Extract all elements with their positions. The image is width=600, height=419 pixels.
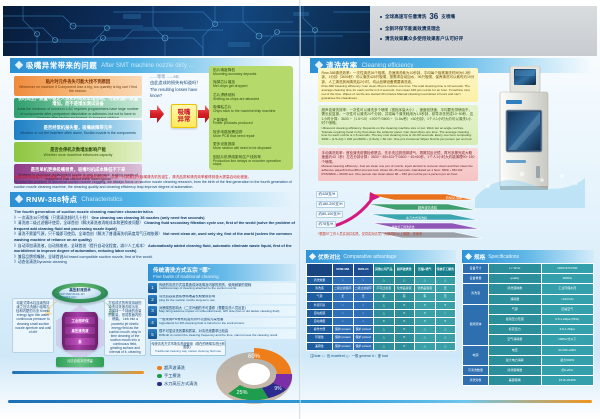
cylinder-band-1: 工业用环保 bbox=[65, 317, 95, 324]
specifications-table: 规格 Specifications 设备尺寸 L× W×H 1300×570×5… bbox=[462, 250, 594, 386]
cell: ○ bbox=[333, 317, 354, 325]
spec-value: 约1.2KG bbox=[541, 365, 594, 375]
col-other: 其他公司产品 bbox=[374, 264, 395, 277]
cell: ✕ bbox=[394, 342, 415, 350]
spec-row: 清洗液 清洗液种类 工业环保水剂 bbox=[463, 284, 594, 294]
spec-mid-cn: 清洗液种类 bbox=[507, 286, 522, 290]
cell: △ bbox=[374, 277, 395, 285]
cell: △ bbox=[415, 326, 436, 334]
characteristic-cn: 》清洗液二级过滤循环使用，全球首创（解决清洗液消耗成本和更换液问题） bbox=[14, 221, 143, 225]
problem-cn: 长时间生产质量不稳定人员和时间成本增加吗，可是机器人数量增加，而不是增加测试设备 bbox=[17, 98, 139, 107]
spec-row: 设备尺寸 L× W×H 1300×570×500 bbox=[463, 264, 594, 274]
row-label: 外观不损 bbox=[307, 301, 333, 309]
row-label: 环保性 bbox=[307, 334, 333, 342]
spec-mid-cn: 最大电力消耗 bbox=[506, 358, 524, 362]
legend-label: 水刀高压方式清洗 bbox=[164, 381, 198, 387]
section-title-characteristics: RNW-368特点 Characteristics bbox=[10, 192, 292, 207]
efficiency-box-manual: 手动清洗效率：首检清洗前需检修是否，先手洗过脱洗脚或气，再擦拭反光镜，再写多擦完… bbox=[318, 148, 478, 181]
consequence-item: 更多设备报废 More section will need to be disp… bbox=[213, 143, 289, 151]
spec-key-cn: 清洗液 bbox=[471, 291, 480, 295]
bullet-text-pre: 全新环保节能高效清洗理念 bbox=[385, 26, 440, 32]
bullet-dot-icon bbox=[380, 16, 382, 18]
comparative-grid: RNW-368 RW2-24 其他公司产品 超声波清洗 压缩+喷气 传统手工擦洗… bbox=[306, 263, 456, 351]
spec-value: 380KG bbox=[541, 274, 594, 284]
characteristic-row: 》兼容品牌喷嘴装，全球首创All brand compatible suctio… bbox=[14, 255, 296, 260]
five-faults-title-en: Five faults of traditional cleaning bbox=[153, 274, 296, 279]
spec-value: 1515~81965 bbox=[541, 376, 594, 386]
fault-row: 1 传统的清洗方式容易造成对吸嘴及内部的损伤，使用频繁的损耗 tradition… bbox=[148, 283, 296, 293]
legend-item: 水刀高压方式清洗 bbox=[157, 381, 198, 387]
cylinder-band-2: 高压清洗液 bbox=[65, 327, 95, 334]
efficiency-box-rnw368: Rnw-368清洗效率：一次性清洗36个吸嘴，总速清洗耗为10秒钟，平均每个吸嘴… bbox=[318, 68, 478, 102]
cell: △ bbox=[415, 277, 436, 285]
question-en: The resulting losses have know? bbox=[150, 87, 202, 100]
fault-number: 3 bbox=[148, 306, 157, 316]
problem-cn: 贴片时元件丢失可能大找不到原因 bbox=[46, 79, 110, 84]
cell: ○ bbox=[333, 277, 354, 285]
cell: ✕ bbox=[394, 317, 415, 325]
fault-en: May bring adverse impact on influential … bbox=[159, 310, 294, 313]
problem-en: Whether more downtime influences capacit… bbox=[44, 153, 113, 157]
col-aircompress: 压缩+喷气 bbox=[415, 264, 436, 277]
consequence-en: Fewer products produced bbox=[213, 122, 289, 126]
bullet-text-post: 支喷嘴 bbox=[441, 14, 455, 20]
spec-mid: 使用压力范围 bbox=[489, 314, 542, 324]
kinetic-right-en: Link into a powerful jet kinetic energy … bbox=[109, 317, 141, 354]
problem-box-1: 贴片时元件丢失可能大找不到原因 Whenever on machine if C… bbox=[14, 76, 142, 96]
spec-key: 设备尺寸 bbox=[463, 264, 489, 274]
cell: △ bbox=[374, 301, 395, 309]
cell: ✕ bbox=[394, 334, 415, 342]
bullet-text-pre: 全球高速写任意清洗 bbox=[385, 14, 426, 20]
spec-value: 最大600W bbox=[541, 355, 594, 365]
table-header-row: RNW-368 RW2-24 其他公司产品 超声波清洗 压缩+喷气 传统手工擦洗 bbox=[307, 264, 456, 277]
spec-key: 清洗液 bbox=[463, 284, 489, 304]
spec-key: 设备重量 bbox=[463, 274, 489, 284]
consequence-en: More section will need to be disposed bbox=[213, 147, 289, 151]
red-arrow-left-icon bbox=[150, 105, 164, 123]
spec-title-cn: 规格 bbox=[474, 253, 485, 261]
cell: △ bbox=[435, 277, 456, 285]
cell: 无 bbox=[353, 293, 374, 301]
characteristics-heading: The fourth generation of suction nozzle … bbox=[14, 209, 296, 214]
cell: ○ bbox=[353, 277, 374, 285]
spec-mid: 最大电力消耗 bbox=[489, 355, 542, 365]
spec-mid-cn: 清洗吸嘴数 bbox=[507, 368, 522, 372]
bullet-dot-icon bbox=[380, 28, 382, 30]
table-row: 清洗效果 ○ ○ △ △ △ △ bbox=[307, 277, 456, 285]
spec-mid-cn: 电压 bbox=[512, 348, 518, 352]
question-cn: 由此造成的损失有知道吗？ bbox=[150, 80, 202, 86]
cell: ○ bbox=[353, 309, 374, 317]
problem-cn: 是否经常机报失警，吸嘴故障带元件 bbox=[44, 125, 113, 130]
brochure-page: 全球高速写任意清洗 36 支喷嘴 全新环保节能高效清洗理念 清洗效果赢众多使用效… bbox=[0, 0, 600, 419]
cell: ○ bbox=[353, 301, 374, 309]
consequence-item: 产能降低 Fewer products produced bbox=[213, 119, 289, 127]
cell: △ bbox=[415, 334, 436, 342]
table-row: 气源 无 无 无 有 有 无 bbox=[307, 293, 456, 301]
middle-question-text: ......等等 ......etc 由此造成的损失有知道吗？ The resu… bbox=[150, 74, 202, 99]
badge-line-1: 吸嘴 bbox=[178, 109, 191, 116]
cell: 不可过滤液 bbox=[374, 285, 395, 293]
pump-cylinder-graphic: 工业用环保 高压清洗液 泵 bbox=[62, 312, 98, 350]
fault-number: 4 bbox=[148, 318, 157, 328]
fault-en: traditional way of cleaning attached to … bbox=[159, 287, 294, 290]
col-rnw368: RNW-368 bbox=[333, 264, 354, 277]
spec-mid-en: quality bbox=[510, 276, 519, 280]
abnormal-nozzle-badge: 吸嘴 异常 bbox=[171, 104, 197, 128]
cell: ✕ bbox=[374, 317, 395, 325]
spec-value: 工业环保水剂 bbox=[541, 284, 594, 294]
cell: ✕ bbox=[435, 317, 456, 325]
spec-title-en: Specifications bbox=[488, 254, 519, 260]
fault-text: 清洗后容易造成喷嘴堵塞长期使用影响 plug for the suction n… bbox=[157, 295, 296, 305]
table-row: 外观不损 ○ ○ △ ✕ ✕ ✕ bbox=[307, 301, 456, 309]
cell: 二级过滤循环 bbox=[333, 285, 354, 293]
five-faults-title-cn: 传统清洗方式五宗 “罪” bbox=[153, 266, 296, 274]
cell: 保护 protect bbox=[353, 326, 374, 334]
efficiency-en: Ultrasonic cleaning efficiency: Depends … bbox=[322, 127, 475, 142]
cell: △ bbox=[374, 326, 395, 334]
consequence-item: 贴片精度降低 Mounting accuracy deposits bbox=[213, 69, 289, 77]
spec-mid: quality bbox=[489, 274, 542, 284]
left-page-footer-rule bbox=[12, 371, 144, 374]
spec-mid-cn: 兼容吸嘴 bbox=[509, 378, 521, 382]
comparative-table-header: 优势对比 Comparative advantage bbox=[306, 250, 456, 263]
row-label: 操作方便 bbox=[307, 326, 333, 334]
cell: ✕ bbox=[394, 326, 415, 334]
characteristic-row: 》自动添加清洗液，自动排废液，全球首创（提升自动化程度，减少人工成本） Auto… bbox=[14, 244, 296, 254]
fault-en: plug for the suction nozzle long-term us… bbox=[159, 299, 294, 302]
cell: 保护 protect bbox=[333, 342, 354, 350]
consequence-en: Production line delays or mounter operat… bbox=[213, 160, 289, 167]
characteristic-cn: 》动态化清洗Dynamic cleaning bbox=[14, 260, 67, 264]
col-rw224: RW2-24 bbox=[353, 264, 374, 277]
problem-cn: 是否会停机次数增加影响产能 bbox=[50, 147, 106, 152]
cell: 二级过滤循环 bbox=[353, 285, 374, 293]
cell: ○ bbox=[353, 317, 374, 325]
circuit-banner-image bbox=[3, 6, 370, 56]
table-row: 操作方便 保护 protect 保护 protect △ ✕ △ △ bbox=[307, 326, 456, 334]
problem-en: Whenever on machine if Component lose a … bbox=[17, 85, 139, 93]
five-faults-header: 传统清洗方式五宗 “罪” Five faults of traditional … bbox=[148, 264, 296, 281]
table-row: 环保性 保护 protect 保护 protect △ ✕ △ △ bbox=[307, 334, 456, 342]
cell: 保护 protect bbox=[333, 334, 354, 342]
section-title-en: After SMT machine nozzle dirty ... bbox=[101, 62, 194, 69]
spec-mid: 兼容吸嘴 bbox=[489, 376, 542, 386]
slice-label-green: 25% bbox=[236, 390, 247, 396]
efficiency-en: Manual cleaning efficiency: Just we clea… bbox=[322, 165, 475, 177]
kinetic-left-en: Kinetic energy type thin water continuou… bbox=[15, 309, 51, 334]
spec-key: 使用流体 bbox=[463, 304, 489, 345]
characteristic-row: 》清洗不需要气源，只干燥即可使用，全球首创（解决了普通清洗机高度用气压缩依赖） … bbox=[14, 232, 296, 242]
problem-box-3: 是否经常机报失警，吸嘴故障带元件 Whether or not the mach… bbox=[14, 120, 142, 140]
banner-bullet-item: 全新环保节能高效清洗理念 bbox=[380, 26, 591, 32]
specifications-table-header: 规格 Specifications bbox=[462, 250, 594, 263]
slice-label-purple: 9% bbox=[274, 386, 282, 392]
cell: ✕ bbox=[415, 301, 436, 309]
cell: 有 bbox=[394, 293, 415, 301]
cell: ○ bbox=[333, 301, 354, 309]
page-footer-rule bbox=[8, 400, 592, 403]
spec-mid: L× W×H bbox=[489, 264, 542, 274]
legend-swatch-icon bbox=[157, 382, 162, 387]
slab-label-1: 约428支/H bbox=[316, 191, 338, 198]
spec-row: 设备重量 quality 380KG bbox=[463, 274, 594, 284]
consequences-list: 贴片精度降低 Mounting accuracy deposits 抛掉芯片增加… bbox=[209, 66, 293, 170]
fault-row: 4 一般采用IPA等有机溶剂对环境造成污染危害 Ingredients for … bbox=[148, 318, 296, 328]
spec-mid: 空气消耗量 bbox=[489, 335, 542, 345]
characteristic-cn: 》清洗不需要气源，只干燥即可使用，全球首创（解决了普通清洗机高度用气压缩依赖） bbox=[14, 232, 162, 236]
red-summary-note: 为解决吸嘴堵塞清洗的难题，我们一直专注吸嘴清洗的研究，从第一代到第四代吸嘴清洗机… bbox=[14, 175, 292, 190]
cell: △ bbox=[374, 342, 395, 350]
fault-number: 1 bbox=[148, 283, 157, 293]
fault-number: 2 bbox=[148, 295, 157, 305]
spec-mid: 清洗吸嘴数 bbox=[489, 365, 542, 375]
slab-chart-note: *根据RT工作人员实测并实践，仅供实际情况，大致同时以上数据，仅参考 bbox=[318, 233, 488, 237]
consequence-item: 芯片漂移倾斜 Shifting as chips are attracted bbox=[213, 94, 289, 102]
cell: 保护 protect bbox=[333, 326, 354, 334]
spec-key: 电源 bbox=[463, 345, 489, 365]
cell: △ bbox=[374, 334, 395, 342]
efficiency-cn: Rnw-368清洗效率：一次性清洗36个吸嘴，总速清洗耗为10秒钟，平均每个吸嘴… bbox=[322, 71, 475, 85]
banner-bullet-list: 全球高速写任意清洗 36 支喷嘴 全新环保节能高效清洗理念 清洗效果赢众多使用效… bbox=[370, 6, 597, 56]
row-label: 清洗效果 bbox=[307, 277, 333, 285]
spec-key-cn: 清洗对象 bbox=[469, 378, 481, 382]
badge-line-2: 异常 bbox=[178, 116, 191, 123]
col-ultrasonic: 超声波清洗 bbox=[394, 264, 415, 277]
fault-text: 对喷嘴的影响大（二次叶细的不可重修（需要清洗人员反复） May bring ad… bbox=[157, 306, 296, 316]
cell: ○ bbox=[435, 309, 456, 317]
spec-value: 0.5-1.2Mpa (5KG) bbox=[541, 314, 594, 324]
cell: △ bbox=[374, 309, 395, 317]
spec-value: 6.8-1.2Mpa bbox=[541, 325, 594, 335]
cell: △ bbox=[435, 326, 456, 334]
spec-mid: 消耗量 bbox=[489, 294, 542, 304]
auto-residue-label: 污渍自动冲洗残留 bbox=[56, 357, 104, 367]
comparative-legend-note: 注Note ○：优 excellent △：一般 general ✕：差 bad bbox=[306, 353, 456, 358]
circuit-trace-art bbox=[3, 6, 370, 56]
consequence-en: Mei chips get dropped bbox=[213, 85, 289, 89]
slab-title-1: RNW-368 bbox=[446, 196, 462, 200]
consequence-en: Mounting accuracy deposits bbox=[213, 73, 289, 77]
page-spread-seam bbox=[299, 0, 301, 419]
fault-number: 5 bbox=[148, 329, 157, 339]
fault-en: Difficult to control the cleaning freque… bbox=[159, 334, 294, 337]
table-row: 清洗液 二级过滤循环 二级过滤循环 不可过滤液 化学品溶液 化学品溶液 无 bbox=[307, 285, 456, 293]
spec-mid-cn: 使用压力范围 bbox=[506, 317, 524, 321]
spec-key-cn: 使用流体 bbox=[469, 322, 481, 326]
row-label: 自动排废 bbox=[307, 317, 333, 325]
cleaning-machine-photo bbox=[496, 66, 552, 194]
row-label: 清洗液 bbox=[307, 285, 333, 293]
cell: △ bbox=[435, 334, 456, 342]
problem-box-4: 是否会停机次数增加影响产能 Whether more downtime infl… bbox=[14, 142, 142, 162]
consequence-item: 抛掉芯片增加 Mei chips get dropped bbox=[213, 81, 289, 89]
spec-mid-cn: 空气消耗量 bbox=[507, 337, 522, 341]
problem-cn: 是否单机更换吸嘴很贵，吸嘴均机成本降低不下来 bbox=[31, 167, 126, 172]
slab-title-2: 超声波清洗机 bbox=[418, 205, 438, 210]
cell: 有 bbox=[415, 293, 436, 301]
cell: 无 bbox=[435, 293, 456, 301]
five-faults-panel: 传统清洗方式五宗 “罪” Five faults of traditional … bbox=[148, 264, 296, 340]
cell: 无 bbox=[333, 293, 354, 301]
slab-title-3: 水刀方式清洗机 bbox=[406, 215, 427, 220]
fault-en: Ingredients for IPA cleaning fluid is ha… bbox=[159, 322, 294, 325]
cell: △ bbox=[415, 342, 436, 350]
legend-item: 手工擦洗 bbox=[157, 373, 198, 379]
spec-mid-en: L× W×H bbox=[509, 266, 520, 270]
consequence-en: Chips stick to the machine/chip machine bbox=[213, 110, 289, 114]
efficiency-box-ultrasonic: 超声波清洗效率：一次性可以清洗多个喷嘴（视批序量大小），速度较快速，平均要安排喷… bbox=[318, 105, 478, 145]
red-note-cn: 为解决吸嘴堵塞清洗的难题，我们一直专注吸嘴清洗的研究，从第一代到第四代吸嘴清洗机… bbox=[14, 175, 292, 180]
slab-title-4: 传统手工擦洗清洗 bbox=[392, 225, 415, 229]
table-row: 兼容性 保护 protect 保护 protect △ ✕ △ △ bbox=[307, 342, 456, 350]
fault-row: 3 对喷嘴的影响大（二次叶细的不可重修（需要清洗人员反复） May bring … bbox=[148, 306, 296, 316]
spec-key-cn: 可清洗数量 bbox=[468, 368, 483, 372]
problem-en: Adds the minimum of occurs to LAC requir… bbox=[17, 107, 139, 118]
fault-row: 2 清洗后容易造成喷嘴堵塞长期使用影响 plug for the suction… bbox=[148, 295, 296, 305]
bullet-dot-icon bbox=[380, 38, 382, 40]
spec-mid: 清洗液种类 bbox=[489, 284, 542, 294]
efficiency-en: Rnw-368 Cleaning efficiency: Can clean 3… bbox=[322, 85, 475, 100]
characteristic-cn: 》一次清洗36只喷嘴（只需清洗耗时几十秒） bbox=[14, 216, 90, 220]
characteristic-en: One cleaning can cleaning 36 nozzles (on… bbox=[91, 216, 204, 220]
slab-label-4: 约78支/H bbox=[316, 221, 336, 228]
auto-residue-cn: 污渍自动冲洗残留 bbox=[67, 360, 93, 364]
spec-mid: 标定压力 bbox=[489, 325, 542, 335]
comparative-title-en: Comparative advantage bbox=[343, 254, 396, 260]
consequence-en: More PCB that need repair bbox=[213, 135, 289, 139]
banner-bullet-item: 全球高速写任意清洗 36 支喷嘴 bbox=[380, 12, 591, 22]
cell: ✕ bbox=[394, 301, 415, 309]
spec-row: 使用流体 气源 压缩空气 bbox=[463, 304, 594, 314]
spec-value: 1300×570×500 bbox=[541, 264, 594, 274]
bullet-text-pre: 清洗效果赢众多使用效果客户认可好评 bbox=[385, 36, 463, 42]
cell: 化学品溶液 bbox=[415, 285, 436, 293]
row-label: 气源 bbox=[307, 293, 333, 301]
spec-key: 可清洗数量 bbox=[463, 365, 489, 375]
cell: ✕ bbox=[415, 309, 436, 317]
cylinder-band-3: 泵 bbox=[65, 338, 95, 345]
legend-label: 手工擦洗 bbox=[164, 373, 181, 379]
spec-value: 1000L/分以下 bbox=[541, 335, 594, 345]
section-title-en: Characteristics bbox=[81, 196, 122, 203]
consequence-item: 较多电路板需返修 More PCB that need repair bbox=[213, 131, 289, 139]
cell: 保护 protect bbox=[353, 334, 374, 342]
jet-title-en: HIGH PRESSURE JET TECHNOLOGY bbox=[59, 293, 101, 299]
spec-mid: 气源 bbox=[489, 304, 542, 314]
kinetic-left-caption: 动能式薄水柱连续的持续之压清洗细小吸嘴孔径和内壁的污渍 Kinetic ener… bbox=[12, 298, 54, 353]
characteristics-list: The fourth generation of suction nozzle … bbox=[14, 209, 296, 266]
characteristic-cn: 》自动添加清洗液，自动排废液，全球首创（提升自动化程度，减少人工成本） bbox=[14, 244, 147, 248]
banner-bullet-item: 清洗效果赢众多使用效果客户认可好评 bbox=[380, 36, 591, 42]
fault-text: 很不可靠清洗效果和质量，对清洗液要求比较高 Difficult to contr… bbox=[157, 329, 296, 339]
characteristic-cn: 》兼容品牌喷嘴装，全球首创All brand compatible suctio… bbox=[14, 255, 153, 259]
fault-text: 传统的清洗方式容易造成对吸嘴及内部的损伤，使用频繁的损耗 traditional… bbox=[157, 283, 296, 293]
cell: 保护 protect bbox=[353, 342, 374, 350]
cell: 无 bbox=[435, 285, 456, 293]
red-note-en: To solve the problem of abnormal suction… bbox=[14, 180, 292, 190]
problem-box-2: 长时间生产质量不稳定人员和时间成本增加吗，可是机器人数量增加，而不是增加测试设备… bbox=[14, 98, 142, 118]
spec-row: 可清洗数量 清洗吸嘴数 约1.2KG bbox=[463, 365, 594, 375]
cell: ○ bbox=[333, 309, 354, 317]
cell: 无 bbox=[374, 293, 395, 301]
legend-swatch-icon bbox=[157, 374, 162, 379]
efficiency-cn: 手动清洗效率：首检清洗前需检修是否，先手洗过脱洗脚或气，再擦拭反光镜，再写多擦完… bbox=[322, 151, 475, 165]
cell: △ bbox=[394, 277, 415, 285]
section-title-cn: 吸嘴异常带来的问题 bbox=[26, 60, 97, 71]
chart-legend: 超声波清洗 手工擦洗 水刀高压方式清洗 bbox=[157, 365, 198, 389]
cell: ✕ bbox=[394, 309, 415, 317]
consequence-en: Shifting as chips are attracted bbox=[213, 98, 289, 102]
consequence-item: 因贴片机停线影响生产线效率 Production line delays or … bbox=[213, 156, 289, 167]
row-label: 兼容性 bbox=[307, 342, 333, 350]
section-title-cn: RNW-368特点 bbox=[26, 194, 77, 205]
specifications-grid: 设备尺寸 L× W×H 1300×570×500 设备重量 quality 38… bbox=[462, 263, 594, 386]
spec-value: 压缩空气 bbox=[541, 304, 594, 314]
cell: 化学品溶液 bbox=[394, 285, 415, 293]
spec-row: 电源 电压 AC100~240V bbox=[463, 345, 594, 355]
legend-item: 超声波清洗 bbox=[157, 365, 198, 371]
consequence-item: 吸嘴粘芯片 Chips stick to the machine/chip ma… bbox=[213, 106, 289, 114]
legend-label: 超声波清洗 bbox=[164, 365, 185, 371]
col-manual: 传统手工擦洗 bbox=[435, 264, 456, 277]
efficiency-cn: 超声波清洗效率：一次性可以清洗多个喷嘴（视批序量大小），速度较快速，平均要安排喷… bbox=[322, 108, 475, 126]
spec-mid-cn: 气源 bbox=[512, 307, 518, 311]
spec-mid-cn: 消耗量 bbox=[510, 297, 519, 301]
kinetic-right-caption: 打结成式的有效持续的冲洗清洗液去除污渍，并保持一个持续的含量的能量，形成表面内的… bbox=[104, 298, 146, 356]
spec-mid: 电压 bbox=[489, 345, 542, 355]
table-row: 自动排废 ○ ○ ✕ ✕ ✕ ✕ bbox=[307, 317, 456, 325]
cell: ✕ bbox=[415, 317, 436, 325]
spec-value: AC100~240V bbox=[541, 345, 594, 355]
spec-key-cn: 电源 bbox=[472, 353, 478, 357]
comparative-title-cn: 优势对比 bbox=[318, 253, 340, 261]
table-row: 自动加液 ○ ○ △ ✕ ✕ ○ bbox=[307, 309, 456, 317]
jet-badge-inner: 高压射流技术 HIGH PRESSURE JET TECHNOLOGY bbox=[59, 287, 101, 299]
slab-label-2: 约180-200支/H bbox=[316, 201, 345, 208]
fault-text: 一般采用IPA等有机溶剂对环境造成污染危害 Ingredients for IP… bbox=[157, 318, 296, 328]
spec-value: <10CC/H bbox=[541, 294, 594, 304]
fault-row: 5 很不可靠清洗效果和质量，对清洗液要求比较高 Difficult to con… bbox=[148, 329, 296, 339]
spec-key: 清洗对象 bbox=[463, 376, 489, 386]
comparative-advantage-table: 优势对比 Comparative advantage RNW-368 RW2-2… bbox=[306, 250, 456, 358]
spec-key-cn: 设备重量 bbox=[469, 276, 481, 280]
legend-swatch-icon bbox=[157, 366, 162, 371]
spec-mid-cn: 标定压力 bbox=[509, 327, 521, 331]
characteristic-row: 》一次清洗36只喷嘴（只需清洗耗时几十秒） One cleaning can c… bbox=[14, 216, 296, 221]
cell: △ bbox=[435, 342, 456, 350]
spec-key-cn: 设备尺寸 bbox=[469, 266, 481, 270]
slice-label-orange: 60% bbox=[248, 354, 261, 360]
slab-label-3: 约80-100支/H bbox=[316, 211, 343, 218]
col-blank bbox=[307, 264, 333, 277]
spec-row: 清洗对象 兼容吸嘴 1515~81965 bbox=[463, 376, 594, 386]
problem-en: Whether or not the machine often alarm, … bbox=[20, 131, 136, 135]
row-label: 自动加液 bbox=[307, 309, 333, 317]
characteristic-row: 》清洗液二级过滤循环使用，全球首创（解决清洗液消耗成本和更换液问题） Clean… bbox=[14, 221, 296, 231]
cell: ✕ bbox=[435, 301, 456, 309]
bullet-number: 36 bbox=[429, 12, 438, 22]
